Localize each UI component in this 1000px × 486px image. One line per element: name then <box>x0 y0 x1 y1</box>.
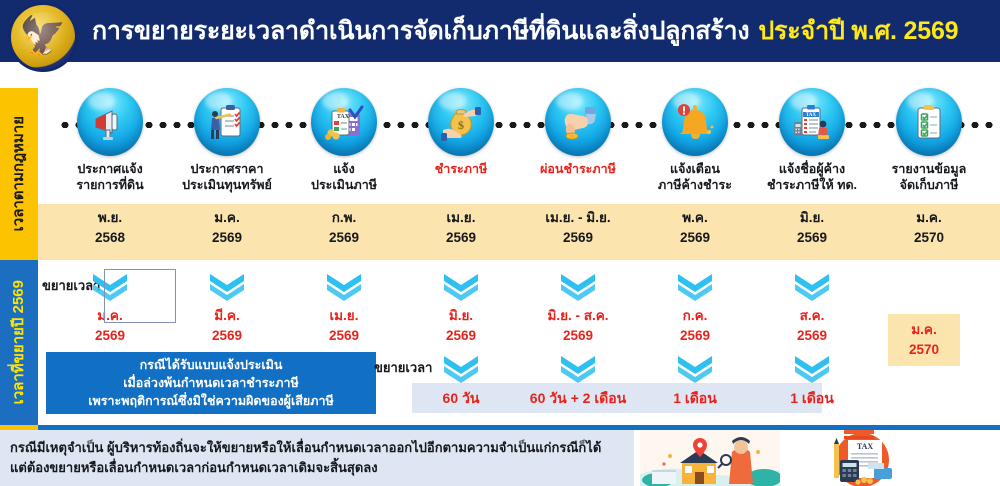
duration-value-4: 1 เดือน <box>750 388 874 410</box>
extension-date-6-year: 2569 <box>643 326 747 346</box>
timeline-step-5-label: ผ่อนชำระภาษี <box>526 162 630 178</box>
page-title-year: ประจำปี พ.ศ. 2569 <box>758 11 958 51</box>
legal-date-1: พ.ย.2568 <box>58 208 162 249</box>
infographic-page: การขยายระยะเวลาดำเนินการจัดเก็บภาษีที่ดิ… <box>0 0 1000 486</box>
extension-date-4-year: 2569 <box>409 326 513 346</box>
extension-date-3-month: เม.ย. <box>292 306 396 326</box>
extension-date-3-year: 2569 <box>292 326 396 346</box>
timeline-step-4[interactable]: $ ชำระภาษี <box>409 88 513 178</box>
extension-chevron-7 <box>792 272 832 302</box>
extension-date-3: เม.ย.2569 <box>292 306 396 347</box>
extension-date-5-year: 2569 <box>526 326 630 346</box>
timeline-step-3-label: แจ้ง ประเมินภาษี <box>292 162 396 193</box>
legal-date-2-month: ม.ค. <box>175 208 279 228</box>
legal-date-8-month: ม.ค. <box>877 208 981 228</box>
legal-date-7: มิ.ย.2569 <box>760 208 864 249</box>
legal-date-3-year: 2569 <box>292 228 396 248</box>
extension-date-4-month: มิ.ย. <box>409 306 513 326</box>
sidebar-tab-extended-time: เวลาที่ขยายปี 2569 <box>0 260 38 425</box>
tax-form-report-icon: TAX <box>779 88 845 156</box>
extension-chevron-4 <box>441 272 481 302</box>
extension-unchanged-month: ม.ค. <box>909 320 939 340</box>
sidebar-tab-legal-time-label: เวลาตามกฎหมาย <box>7 116 31 231</box>
checklist-icon <box>896 88 962 156</box>
legal-date-5: เม.ย. - มิ.ย.2569 <box>526 208 630 249</box>
special-case-note-line3: เพราะพฤติการณ์ซึ่งมิใช่ความผิดของผู้เสีย… <box>88 392 333 410</box>
extension-label-row2: ขยายเวลา <box>374 357 432 378</box>
garuda-emblem: 🦅 <box>8 2 78 72</box>
duration-chevron-1 <box>441 354 481 384</box>
extension-chevron-5 <box>558 272 598 302</box>
extension-date-6: ก.ค.2569 <box>643 306 747 347</box>
legal-date-3-month: ก.พ. <box>292 208 396 228</box>
svg-text:TAX: TAX <box>337 114 350 120</box>
legal-date-8: ม.ค.2570 <box>877 208 981 249</box>
extension-date-2-year: 2569 <box>175 326 279 346</box>
special-case-note-line2: เมื่อล่วงพ้นกำหนดเวลาชำระภาษี <box>123 374 298 392</box>
legal-date-1-month: พ.ย. <box>58 208 162 228</box>
extension-highlight-box <box>104 269 176 323</box>
duration-chevron-3 <box>675 354 715 384</box>
extension-chevron-6 <box>675 272 715 302</box>
duration-chevron-2 <box>558 354 598 384</box>
timeline-step-1[interactable]: ประกาศแจ้ง รายการที่ดิน <box>58 88 162 193</box>
legal-date-1-year: 2568 <box>58 228 162 248</box>
timeline-step-8[interactable]: รายงานข้อมูล จัดเก็บภาษี <box>877 88 981 193</box>
timeline-step-6-label: แจ้งเตือน ภาษีค้างชำระ <box>643 162 747 193</box>
megaphone-icon <box>77 88 143 156</box>
extension-date-5: มิ.ย. - ส.ค.2569 <box>526 306 630 347</box>
legal-date-3: ก.พ.2569 <box>292 208 396 249</box>
special-case-note: กรณีได้รับแบบแจ้งประเมินเมื่อล่วงพ้นกำหน… <box>46 352 376 414</box>
legal-date-7-year: 2569 <box>760 228 864 248</box>
special-case-note-line1: กรณีได้รับแบบแจ้งประเมิน <box>140 356 283 374</box>
timeline-step-2[interactable]: ประกาศราคา ประเมินทุนทรัพย์ <box>175 88 279 193</box>
legal-date-6: พ.ค.2569 <box>643 208 747 249</box>
timeline-step-6[interactable]: แจ้งเตือน ภาษีค้างชำระ <box>643 88 747 193</box>
money-bag-hand-icon: $ <box>428 88 494 156</box>
extension-unchanged-box: ม.ค.2570 <box>888 314 960 366</box>
extension-date-4: มิ.ย.2569 <box>409 306 513 347</box>
extension-unchanged-text: ม.ค.2570 <box>909 320 939 361</box>
svg-text:TAX: TAX <box>806 113 817 118</box>
footer-note-line1: กรณีมีเหตุจำเป็น ผู้บริหารท้องถิ่นจะให้ข… <box>10 438 624 458</box>
legal-date-2-year: 2569 <box>175 228 279 248</box>
extension-unchanged-year: 2570 <box>909 340 939 360</box>
legal-date-5-month: เม.ย. - มิ.ย. <box>526 208 630 228</box>
page-title: การขยายระยะเวลาดำเนินการจัดเก็บภาษีที่ดิ… <box>92 0 992 62</box>
legal-date-6-month: พ.ค. <box>643 208 747 228</box>
extension-date-2: มี.ค.2569 <box>175 306 279 347</box>
page-title-main: การขยายระยะเวลาดำเนินการจัดเก็บภาษีที่ดิ… <box>92 11 749 51</box>
tax-calculator-icon: TAX <box>311 88 377 156</box>
duration-value-3: 1 เดือน <box>633 388 757 410</box>
extension-date-1-year: 2569 <box>58 326 162 346</box>
legal-date-8-year: 2570 <box>877 228 981 248</box>
footer-note-line2: แต่ต้องขยายหรือเลื่อนกำหนดเวลาก่อนกำหนดเ… <box>10 458 624 478</box>
house-inspector-illustration <box>640 430 780 486</box>
legal-date-4: เม.ย.2569 <box>409 208 513 249</box>
extension-date-2-month: มี.ค. <box>175 306 279 326</box>
extension-chevron-3 <box>324 272 364 302</box>
tax-document-calculator-illustration: TAX <box>800 430 920 486</box>
legal-date-6-year: 2569 <box>643 228 747 248</box>
extension-date-7-month: ส.ค. <box>760 306 864 326</box>
legal-date-2: ม.ค.2569 <box>175 208 279 249</box>
extension-date-6-month: ก.ค. <box>643 306 747 326</box>
timeline-step-7-label: แจ้งชื่อผู้ค้าง ชำระภาษีให้ ทด. <box>760 162 864 193</box>
duration-chevron-4 <box>792 354 832 384</box>
timeline-step-2-label: ประกาศราคา ประเมินทุนทรัพย์ <box>175 162 279 193</box>
timeline-step-8-label: รายงานข้อมูล จัดเก็บภาษี <box>877 162 981 193</box>
extension-date-7: ส.ค.2569 <box>760 306 864 347</box>
sidebar-tab-extended-time-label: เวลาที่ขยายปี 2569 <box>7 280 31 404</box>
svg-text:$: $ <box>458 118 464 132</box>
timeline-step-1-label: ประกาศแจ้ง รายการที่ดิน <box>58 162 162 193</box>
timeline-step-3[interactable]: TAX แจ้ง ประเมินภาษี <box>292 88 396 193</box>
legal-date-5-year: 2569 <box>526 228 630 248</box>
legal-date-7-month: มิ.ย. <box>760 208 864 228</box>
svg-text:TAX: TAX <box>857 442 874 451</box>
timeline-step-7[interactable]: TAX แจ้งชื่อผู้ค้าง ชำระภาษีให้ ทด. <box>760 88 864 193</box>
extension-date-7-year: 2569 <box>760 326 864 346</box>
footer-note: กรณีมีเหตุจำเป็น ผู้บริหารท้องถิ่นจะให้ข… <box>0 430 634 486</box>
legal-date-4-month: เม.ย. <box>409 208 513 228</box>
duration-value-1: 60 วัน <box>399 388 523 410</box>
coin-hand-icon <box>545 88 611 156</box>
garuda-glyph: 🦅 <box>19 18 66 56</box>
alert-bell-icon <box>662 88 728 156</box>
timeline-step-5[interactable]: ผ่อนชำระภาษี <box>526 88 630 178</box>
timeline-step-4-label: ชำระภาษี <box>409 162 513 178</box>
duration-value-2: 60 วัน + 2 เดือน <box>516 388 640 410</box>
legal-date-4-year: 2569 <box>409 228 513 248</box>
extension-chevron-2 <box>207 272 247 302</box>
extension-date-5-month: มิ.ย. - ส.ค. <box>526 306 630 326</box>
clipboard-person-icon <box>194 88 260 156</box>
sidebar-tab-legal-time: เวลาตามกฎหมาย <box>0 88 38 260</box>
